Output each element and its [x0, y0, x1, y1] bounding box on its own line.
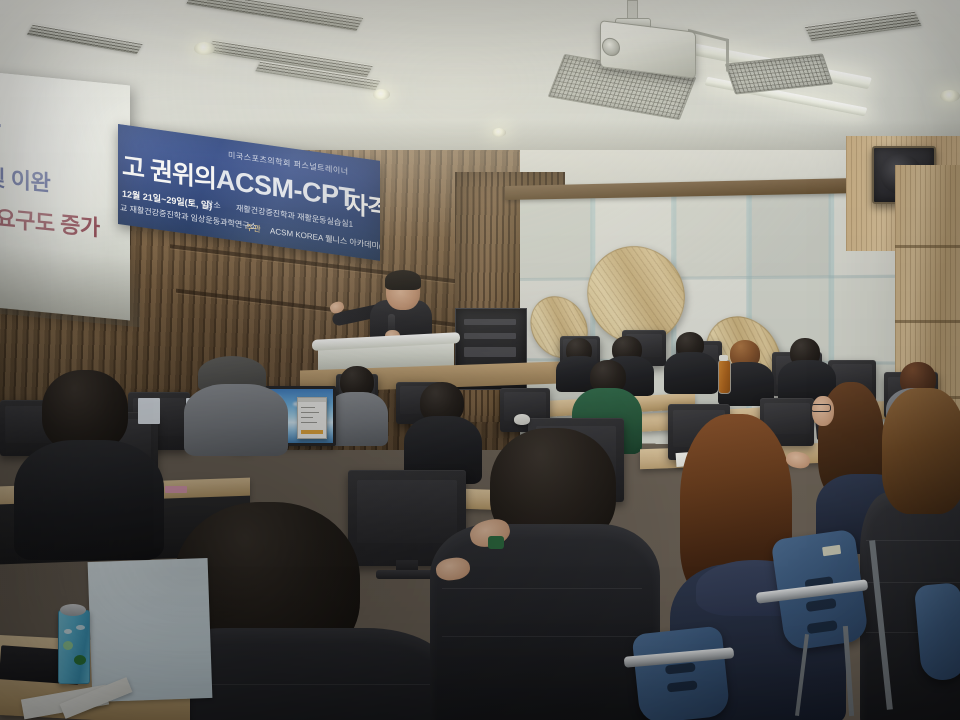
wall-seam — [895, 245, 960, 248]
bottle-cap — [719, 355, 728, 361]
slide-line-2: 축 및 이완 — [0, 157, 50, 198]
student-puffer-jacket — [430, 524, 660, 720]
student-hair — [882, 388, 960, 514]
beverage-can — [58, 610, 90, 684]
can-top — [60, 604, 86, 616]
instructor-hair — [385, 270, 421, 290]
computer-mouse — [514, 414, 530, 425]
student-body — [14, 440, 164, 560]
student-body — [184, 384, 288, 456]
screen-shadow — [0, 243, 140, 327]
wrist-watch — [488, 536, 504, 549]
classroom-chair[interactable] — [632, 626, 731, 720]
recessed-downlight — [194, 42, 215, 55]
slide-line-3: 지 요구도 증가 — [0, 198, 100, 242]
slide-line-1: 동 — [0, 98, 1, 145]
recessed-downlight — [940, 90, 960, 102]
student — [180, 356, 300, 476]
sticker-note — [138, 398, 160, 424]
wall-seam — [895, 320, 960, 323]
recessed-downlight — [373, 89, 390, 100]
tea-bottle — [718, 360, 731, 394]
eyeglasses-icon — [811, 404, 831, 412]
student-body — [664, 352, 718, 394]
student — [20, 370, 170, 550]
paper-sheet — [88, 558, 213, 702]
classroom-photo: 동 축 및 이완 지 요구도 증가 미국스포츠의학회 퍼스널트레이너 고 권위의… — [0, 0, 960, 720]
